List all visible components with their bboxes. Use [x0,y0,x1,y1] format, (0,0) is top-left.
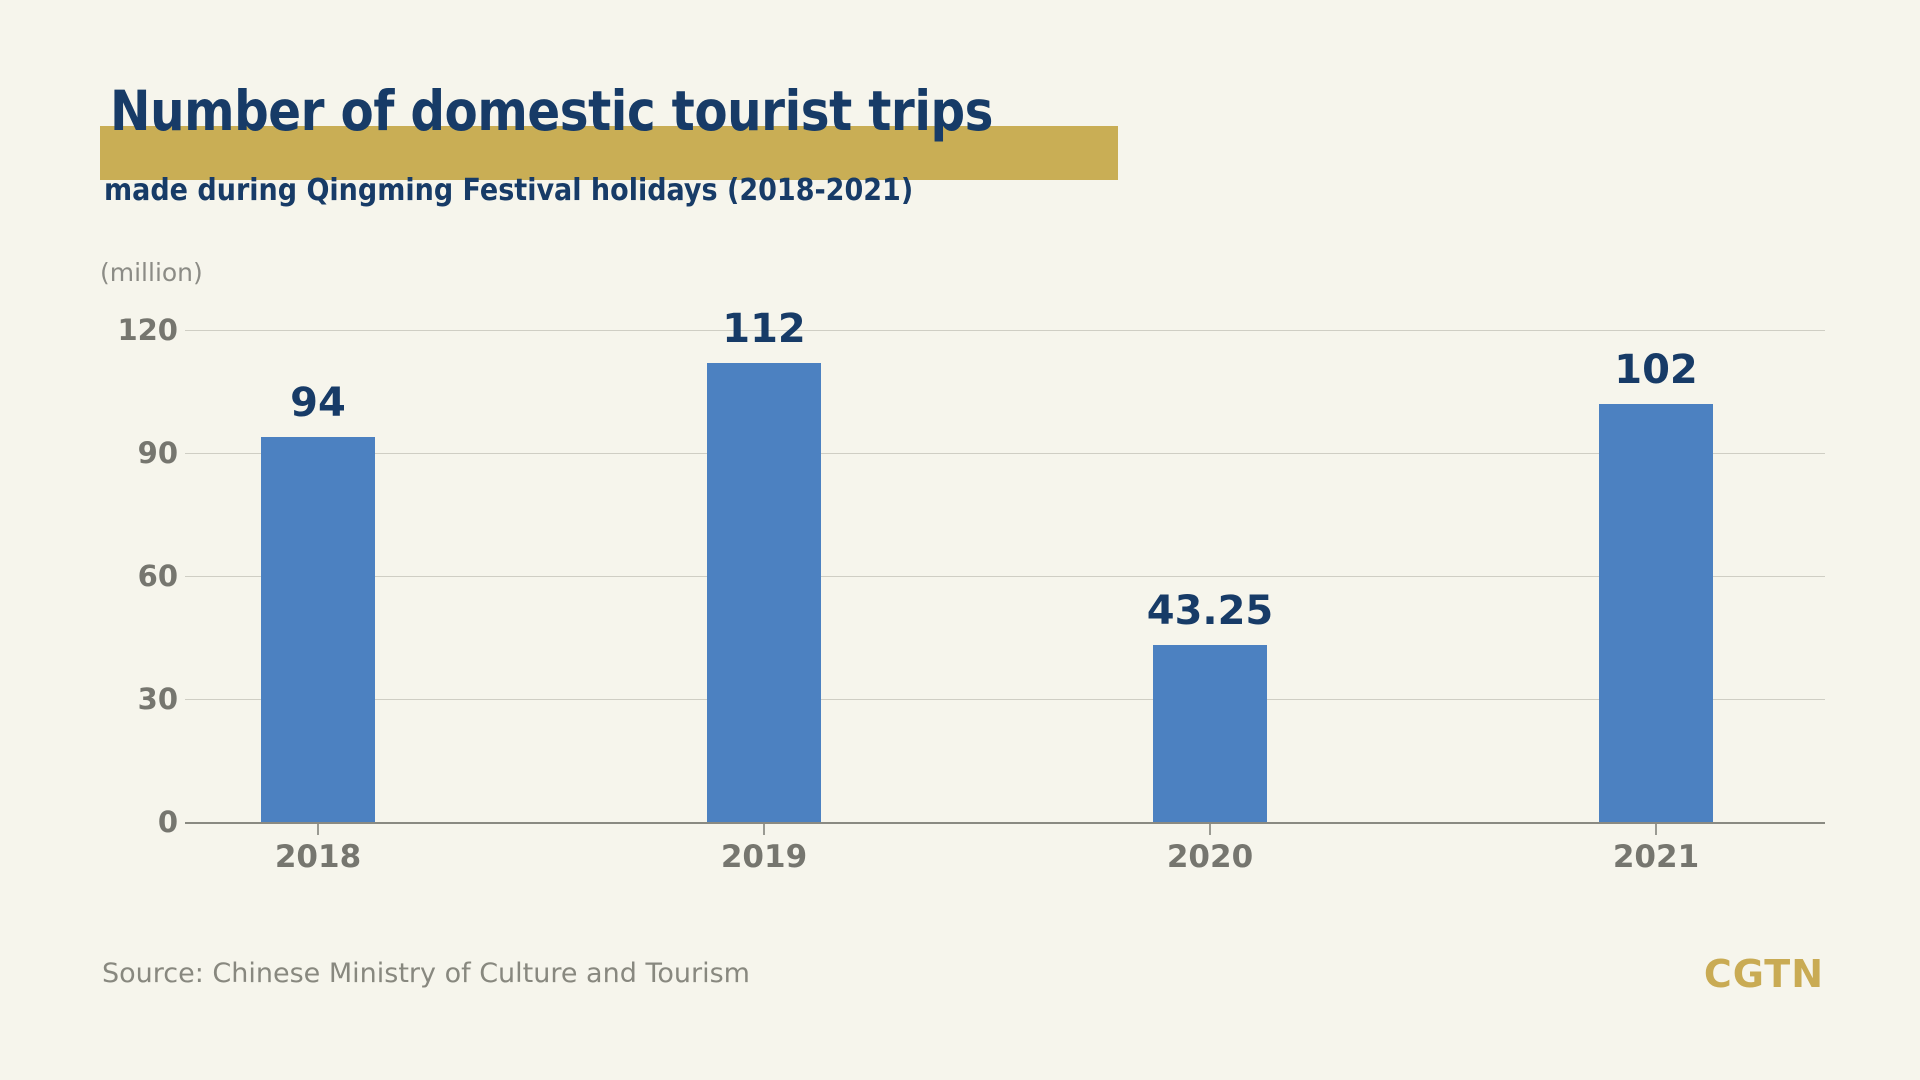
gridline-120 [185,330,1825,331]
y-tick-label-90: 90 [68,436,178,470]
source-attribution: Source: Chinese Ministry of Culture and … [102,958,750,989]
bar-2018[interactable] [261,437,375,822]
bar-2020[interactable] [1153,645,1267,822]
gridline-60 [185,576,1825,577]
x-tick-label-2018: 2018 [243,839,393,875]
y-tick-label-30: 30 [68,682,178,716]
x-tick-label-2021: 2021 [1581,839,1731,875]
gridline-30 [185,699,1825,700]
bar-2021[interactable] [1599,404,1713,822]
gridline-0-baseline [185,822,1825,824]
bar-value-2020: 43.25 [1135,588,1285,634]
bar-value-2018: 94 [261,380,375,426]
bar-chart-plot: 120 90 60 30 0 94 2018 112 2019 43.25 20… [0,0,1920,1080]
bar-2019[interactable] [707,363,821,822]
x-tick-label-2020: 2020 [1135,839,1285,875]
cgtn-logo: CGTN [1704,952,1824,996]
bar-value-2019: 112 [707,306,821,352]
x-tick-mark-2019 [763,824,765,835]
x-tick-label-2019: 2019 [689,839,839,875]
x-tick-mark-2018 [317,824,319,835]
y-tick-label-60: 60 [68,559,178,593]
gridline-90 [185,453,1825,454]
y-tick-label-120: 120 [68,313,178,347]
x-tick-mark-2020 [1209,824,1211,835]
infographic-canvas: Number of domestic tourist trips made du… [0,0,1920,1080]
x-tick-mark-2021 [1655,824,1657,835]
y-tick-label-0: 0 [68,805,178,839]
bar-value-2021: 102 [1599,347,1713,393]
